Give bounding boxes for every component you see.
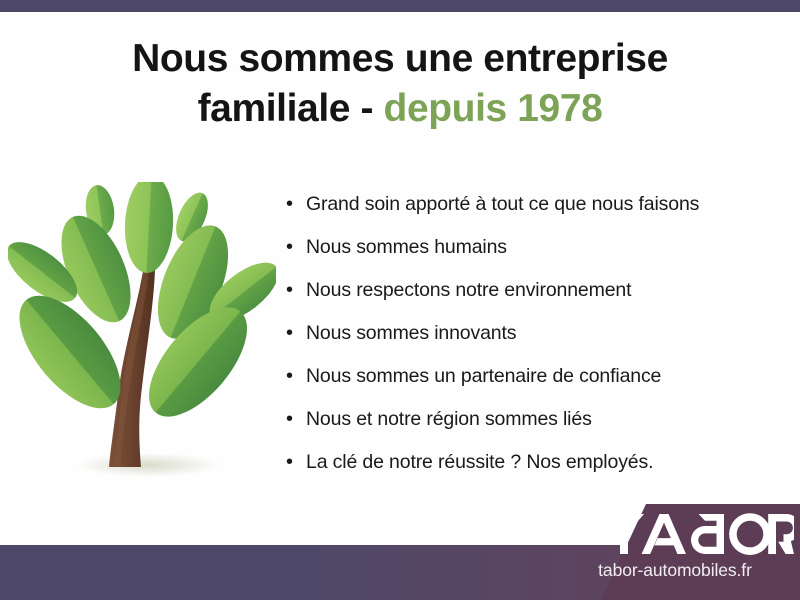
tabor-logo-wordmark: [604, 512, 794, 556]
list-item: • Nous et notre région sommes liés: [286, 407, 786, 450]
page-title: Nous sommes une entreprise familiale - d…: [60, 34, 740, 134]
list-item-label: Nous respectons notre environnement: [306, 278, 631, 302]
list-item-label: La clé de notre réussite ? Nos employés.: [306, 450, 653, 474]
list-item: • Nous sommes innovants: [286, 321, 786, 364]
bullet-marker-icon: •: [286, 280, 306, 300]
top-accent-band: [0, 0, 800, 12]
list-item: • Nous sommes humains: [286, 235, 786, 278]
headline-line-2-plain: familiale -: [198, 87, 384, 130]
list-item: • Grand soin apporté à tout ce que nous …: [286, 192, 786, 235]
bullet-marker-icon: •: [286, 194, 306, 214]
bullet-marker-icon: •: [286, 366, 306, 386]
headline-line-2: familiale - depuis 1978: [60, 84, 740, 134]
bullet-marker-icon: •: [286, 452, 306, 472]
list-item-label: Nous sommes innovants: [306, 321, 516, 345]
list-item: • Nous sommes un partenaire de confiance: [286, 364, 786, 407]
list-item: • La clé de notre réussite ? Nos employé…: [286, 450, 786, 493]
bullet-marker-icon: •: [286, 323, 306, 343]
list-item-label: Nous sommes humains: [306, 235, 507, 259]
tree-illustration: [8, 182, 276, 482]
logo-tagline: tabor-automobiles.fr: [555, 560, 795, 581]
headline-accent-text: depuis 1978: [384, 87, 603, 130]
list-item-label: Grand soin apporté à tout ce que nous fa…: [306, 192, 699, 216]
list-item-label: Nous et notre région sommes liés: [306, 407, 592, 431]
benefits-list: • Grand soin apporté à tout ce que nous …: [286, 192, 786, 493]
headline-line-1: Nous sommes une entreprise: [60, 34, 740, 84]
slide-canvas: Nous sommes une entreprise familiale - d…: [0, 0, 800, 600]
bullet-marker-icon: •: [286, 237, 306, 257]
leaf-top-center: [122, 182, 175, 274]
list-item: • Nous respectons notre environnement: [286, 278, 786, 321]
list-item-label: Nous sommes un partenaire de confiance: [306, 364, 661, 388]
bullet-marker-icon: •: [286, 409, 306, 429]
tree-shadow: [76, 453, 220, 477]
